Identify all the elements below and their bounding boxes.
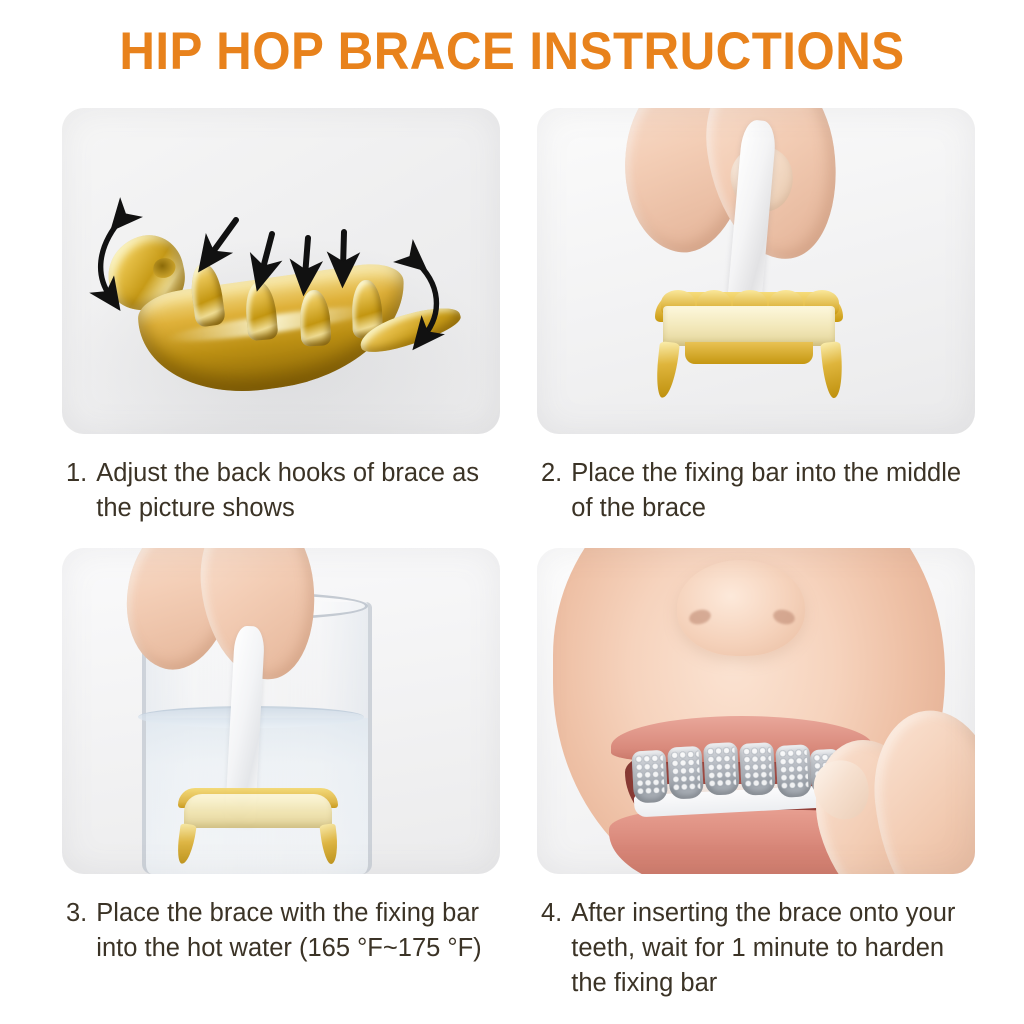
step-1-text: Adjust the back hooks of brace as the pi… [96,456,500,526]
brace-inner-bar [663,306,835,346]
hand-dipping-brace [128,548,328,674]
gold-brace-submerged [178,788,338,860]
step-4-photo [537,548,975,874]
crystal-tooth-3 [703,742,740,796]
step-card-1: 1. Adjust the back hooks of brace as the… [62,108,500,526]
step-4-caption: 4. After inserting the brace onto your t… [537,896,975,1001]
nose [677,560,805,656]
brace-inner-bar [184,794,332,828]
step-2-photo [537,108,975,434]
gold-brace [655,290,845,402]
steps-grid: 1. Adjust the back hooks of brace as the… [0,100,1024,1020]
step-card-3: 3. Place the brace with the fixing bar i… [62,548,500,966]
step-2-text: Place the fixing bar into the middle of … [571,456,975,526]
crystal-tooth-1 [631,750,668,804]
step-2-caption: 2. Place the fixing bar into the middle … [537,456,975,526]
hand-inserting-brace [803,716,975,874]
brace-fang-right [820,341,846,399]
step-1-photo [62,108,500,434]
page-title: HIP HOP BRACE INSTRUCTIONS [36,22,988,82]
step-3-photo [62,548,500,874]
step-1-number: 1. [66,456,87,491]
brace-fang-left [654,341,680,399]
gold-brace-illustration [86,218,466,408]
step-card-2: 2. Place the fixing bar into the middle … [537,108,975,526]
brace-lower-edge [685,342,813,364]
brace-fang-right [319,823,340,865]
brace-fang-left [175,823,196,865]
crystal-tooth-2 [667,746,704,800]
crystal-tooth-4 [739,742,776,796]
step-4-text: After inserting the brace onto your teet… [571,896,975,1001]
step-3-caption: 3. Place the brace with the fixing bar i… [62,896,500,966]
step-3-number: 3. [66,896,87,931]
step-2-number: 2. [541,456,562,491]
step-1-caption: 1. Adjust the back hooks of brace as the… [62,456,500,526]
step-3-text: Place the brace with the fixing bar into… [96,896,500,966]
step-4-number: 4. [541,896,562,931]
step-card-4: 4. After inserting the brace onto your t… [537,548,975,1001]
